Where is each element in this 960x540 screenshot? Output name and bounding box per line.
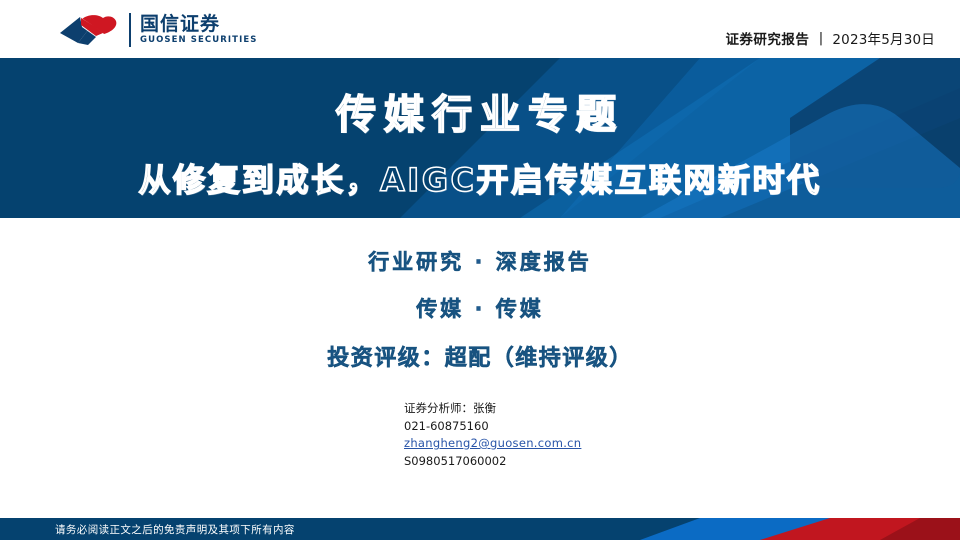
- report-title: 传媒行业专题: [0, 82, 960, 140]
- report-type-label: 证券研究报告: [725, 28, 809, 48]
- header-divider: |: [818, 30, 823, 46]
- research-category-line: 行业研究 · 深度报告: [0, 246, 960, 276]
- report-cover-page: 国信证券 GUOSEN SECURITIES 证券研究报告 | 2023年5月3…: [0, 0, 960, 540]
- logo-name-cn: 国信证券: [140, 14, 257, 35]
- investment-rating-line: 投资评级：超配（维持评级）: [0, 340, 960, 372]
- analyst-phone: 021-60875160: [404, 418, 581, 436]
- report-info-block: 行业研究 · 深度报告 传媒 · 传媒 投资评级：超配（维持评级）: [0, 246, 960, 372]
- report-subtitle: 从修复到成长，AIGC开启传媒互联网新时代: [0, 155, 960, 201]
- footer-disclaimer: 请务必阅读正文之后的免责声明及其项下所有内容: [55, 518, 295, 540]
- page-header: 国信证券 GUOSEN SECURITIES 证券研究报告 | 2023年5月3…: [0, 0, 960, 58]
- analyst-license-number: S0980517060002: [404, 453, 581, 471]
- logo-name-en: GUOSEN SECURITIES: [140, 35, 257, 46]
- analyst-email-link[interactable]: zhangheng2@guosen.com.cn: [404, 435, 581, 453]
- title-banner: 传媒行业专题 从修复到成长，AIGC开启传媒互联网新时代: [0, 58, 960, 218]
- report-date: 2023年5月30日: [832, 28, 935, 48]
- page-footer: 请务必阅读正文之后的免责声明及其项下所有内容: [0, 518, 960, 540]
- header-meta: 证券研究报告 | 2023年5月30日: [725, 28, 935, 48]
- logo-wordmark: 国信证券 GUOSEN SECURITIES: [129, 13, 257, 47]
- analyst-name: 证券分析师：张衡: [404, 400, 581, 418]
- guosen-logo-mark: [58, 13, 120, 47]
- brand-logo: 国信证券 GUOSEN SECURITIES: [58, 13, 257, 47]
- industry-line: 传媒 · 传媒: [0, 293, 960, 323]
- analyst-info-block: 证券分析师：张衡 021-60875160 zhangheng2@guosen.…: [404, 400, 581, 470]
